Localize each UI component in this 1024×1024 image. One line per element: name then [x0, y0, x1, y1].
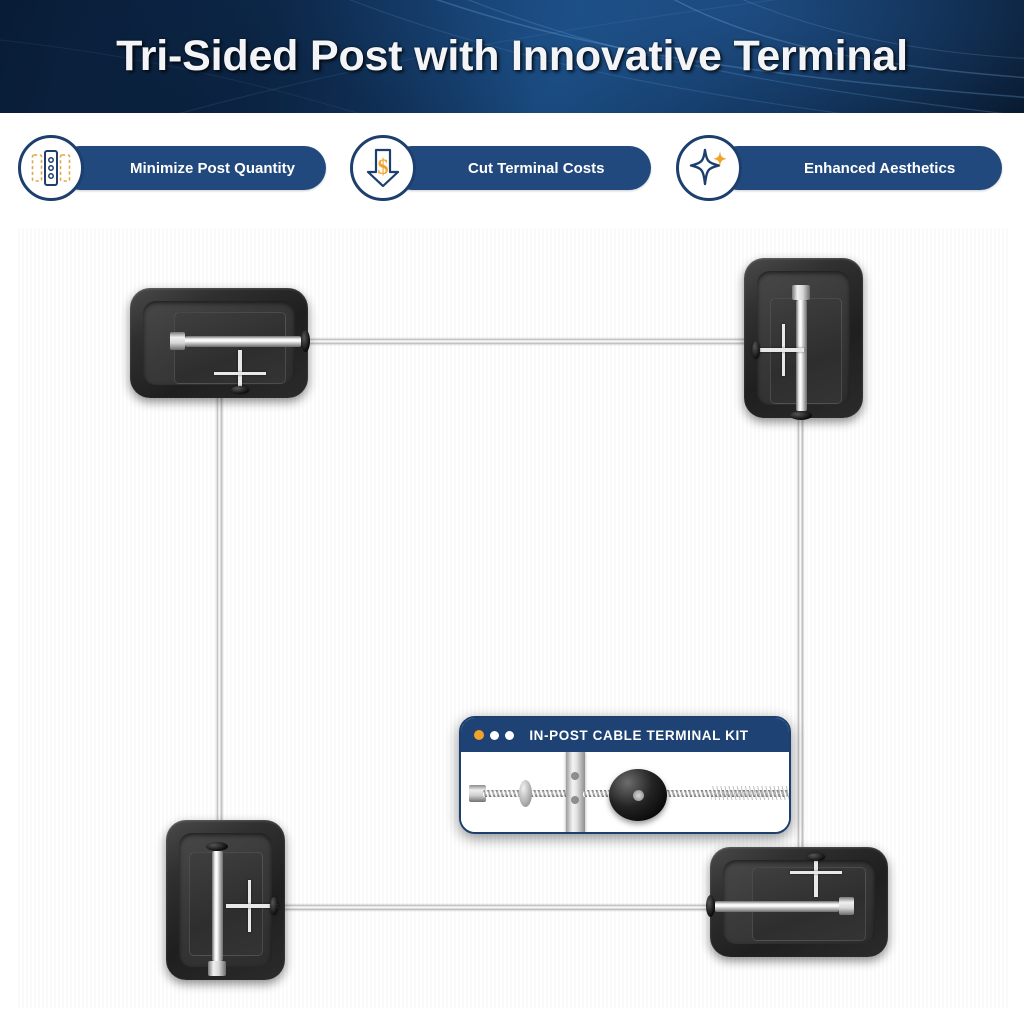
- svg-text:$: $: [378, 154, 389, 179]
- feature-badge-pill: Minimize Post Quantity: [58, 146, 326, 190]
- feature-badge-label: Enhanced Aesthetics: [804, 160, 955, 177]
- callout-card-terminal-kit[interactable]: IN-POST CABLE TERMINAL KIT: [459, 716, 791, 834]
- feature-badge-minimize-post-quantity[interactable]: Minimize Post Quantity: [18, 135, 328, 201]
- terminal-horizontal: [170, 332, 310, 350]
- feature-badge-label: Minimize Post Quantity: [130, 160, 295, 177]
- terminal-hex-nut: [208, 961, 226, 976]
- cross-horizontal-bar: [756, 348, 804, 352]
- terminal-cross-bottom: [210, 350, 270, 396]
- post-bottom-right[interactable]: [710, 847, 888, 957]
- terminal-cross-right: [224, 876, 288, 936]
- kit-washer: [519, 780, 532, 807]
- terminal-disc: [790, 411, 812, 420]
- product-photo: IN-POST CABLE TERMINAL KIT: [16, 228, 1008, 1008]
- terminal-cross-left: [744, 320, 806, 380]
- kit-cable-frayed-end: [711, 786, 789, 800]
- product-infographic: Tri-Sided Post with Innovative Terminal …: [0, 0, 1024, 1024]
- cross-grommet: [270, 897, 278, 915]
- cross-vertical-bar: [814, 855, 818, 897]
- down-arrow-dollar-icon: $: [363, 147, 403, 189]
- feature-badge-label: Cut Terminal Costs: [468, 160, 604, 177]
- cable-right-vertical: [798, 338, 803, 898]
- terminal-hex-nut: [839, 897, 854, 915]
- feature-badge-pill: Enhanced Aesthetics: [716, 146, 1002, 190]
- cross-horizontal-bar: [790, 871, 842, 874]
- callout-card-header: IN-POST CABLE TERMINAL KIT: [461, 718, 789, 752]
- post-top-left[interactable]: [130, 288, 308, 398]
- post-bottom-left[interactable]: [166, 820, 285, 980]
- feature-badge-pill: Cut Terminal Costs: [390, 146, 651, 190]
- terminal-disc: [206, 842, 228, 851]
- feature-badge-icon-circle: [18, 135, 84, 201]
- feature-badge-row: Minimize Post Quantity Cut Terminal Cost…: [0, 113, 1024, 223]
- cross-grommet: [231, 386, 249, 394]
- terminal-disc: [706, 895, 715, 917]
- cross-horizontal-bar: [214, 372, 266, 375]
- post-top-right[interactable]: [744, 258, 863, 418]
- feature-badge-cut-terminal-costs[interactable]: Cut Terminal Costs $: [350, 135, 653, 201]
- terminal-hex-nut: [170, 332, 185, 350]
- terminal-shaft: [715, 901, 839, 912]
- callout-card-body: [461, 752, 789, 834]
- cross-grommet: [752, 341, 760, 359]
- terminal-horizontal: [706, 897, 854, 915]
- terminal-disc: [301, 330, 310, 352]
- feature-badge-enhanced-aesthetics[interactable]: Enhanced Aesthetics: [676, 135, 1004, 201]
- kit-plate-slot-bottom: [571, 796, 579, 804]
- header-banner: Tri-Sided Post with Innovative Terminal: [0, 0, 1024, 113]
- terminal-cross-top: [786, 847, 846, 897]
- cross-grommet: [807, 853, 825, 861]
- feature-badge-icon-circle: [676, 135, 742, 201]
- callout-card-title: IN-POST CABLE TERMINAL KIT: [461, 718, 789, 752]
- kit-terminal-disc: [609, 769, 667, 821]
- terminal-shaft: [212, 851, 223, 961]
- post-holes-icon: [29, 148, 73, 188]
- feature-badge-icon-circle: $: [350, 135, 416, 201]
- kit-plate-slot-top: [571, 772, 579, 780]
- terminal-shaft: [185, 336, 301, 347]
- page-title: Tri-Sided Post with Innovative Terminal: [0, 0, 1024, 113]
- terminal-hex-nut: [792, 285, 810, 300]
- sparkle-icon: [687, 146, 731, 190]
